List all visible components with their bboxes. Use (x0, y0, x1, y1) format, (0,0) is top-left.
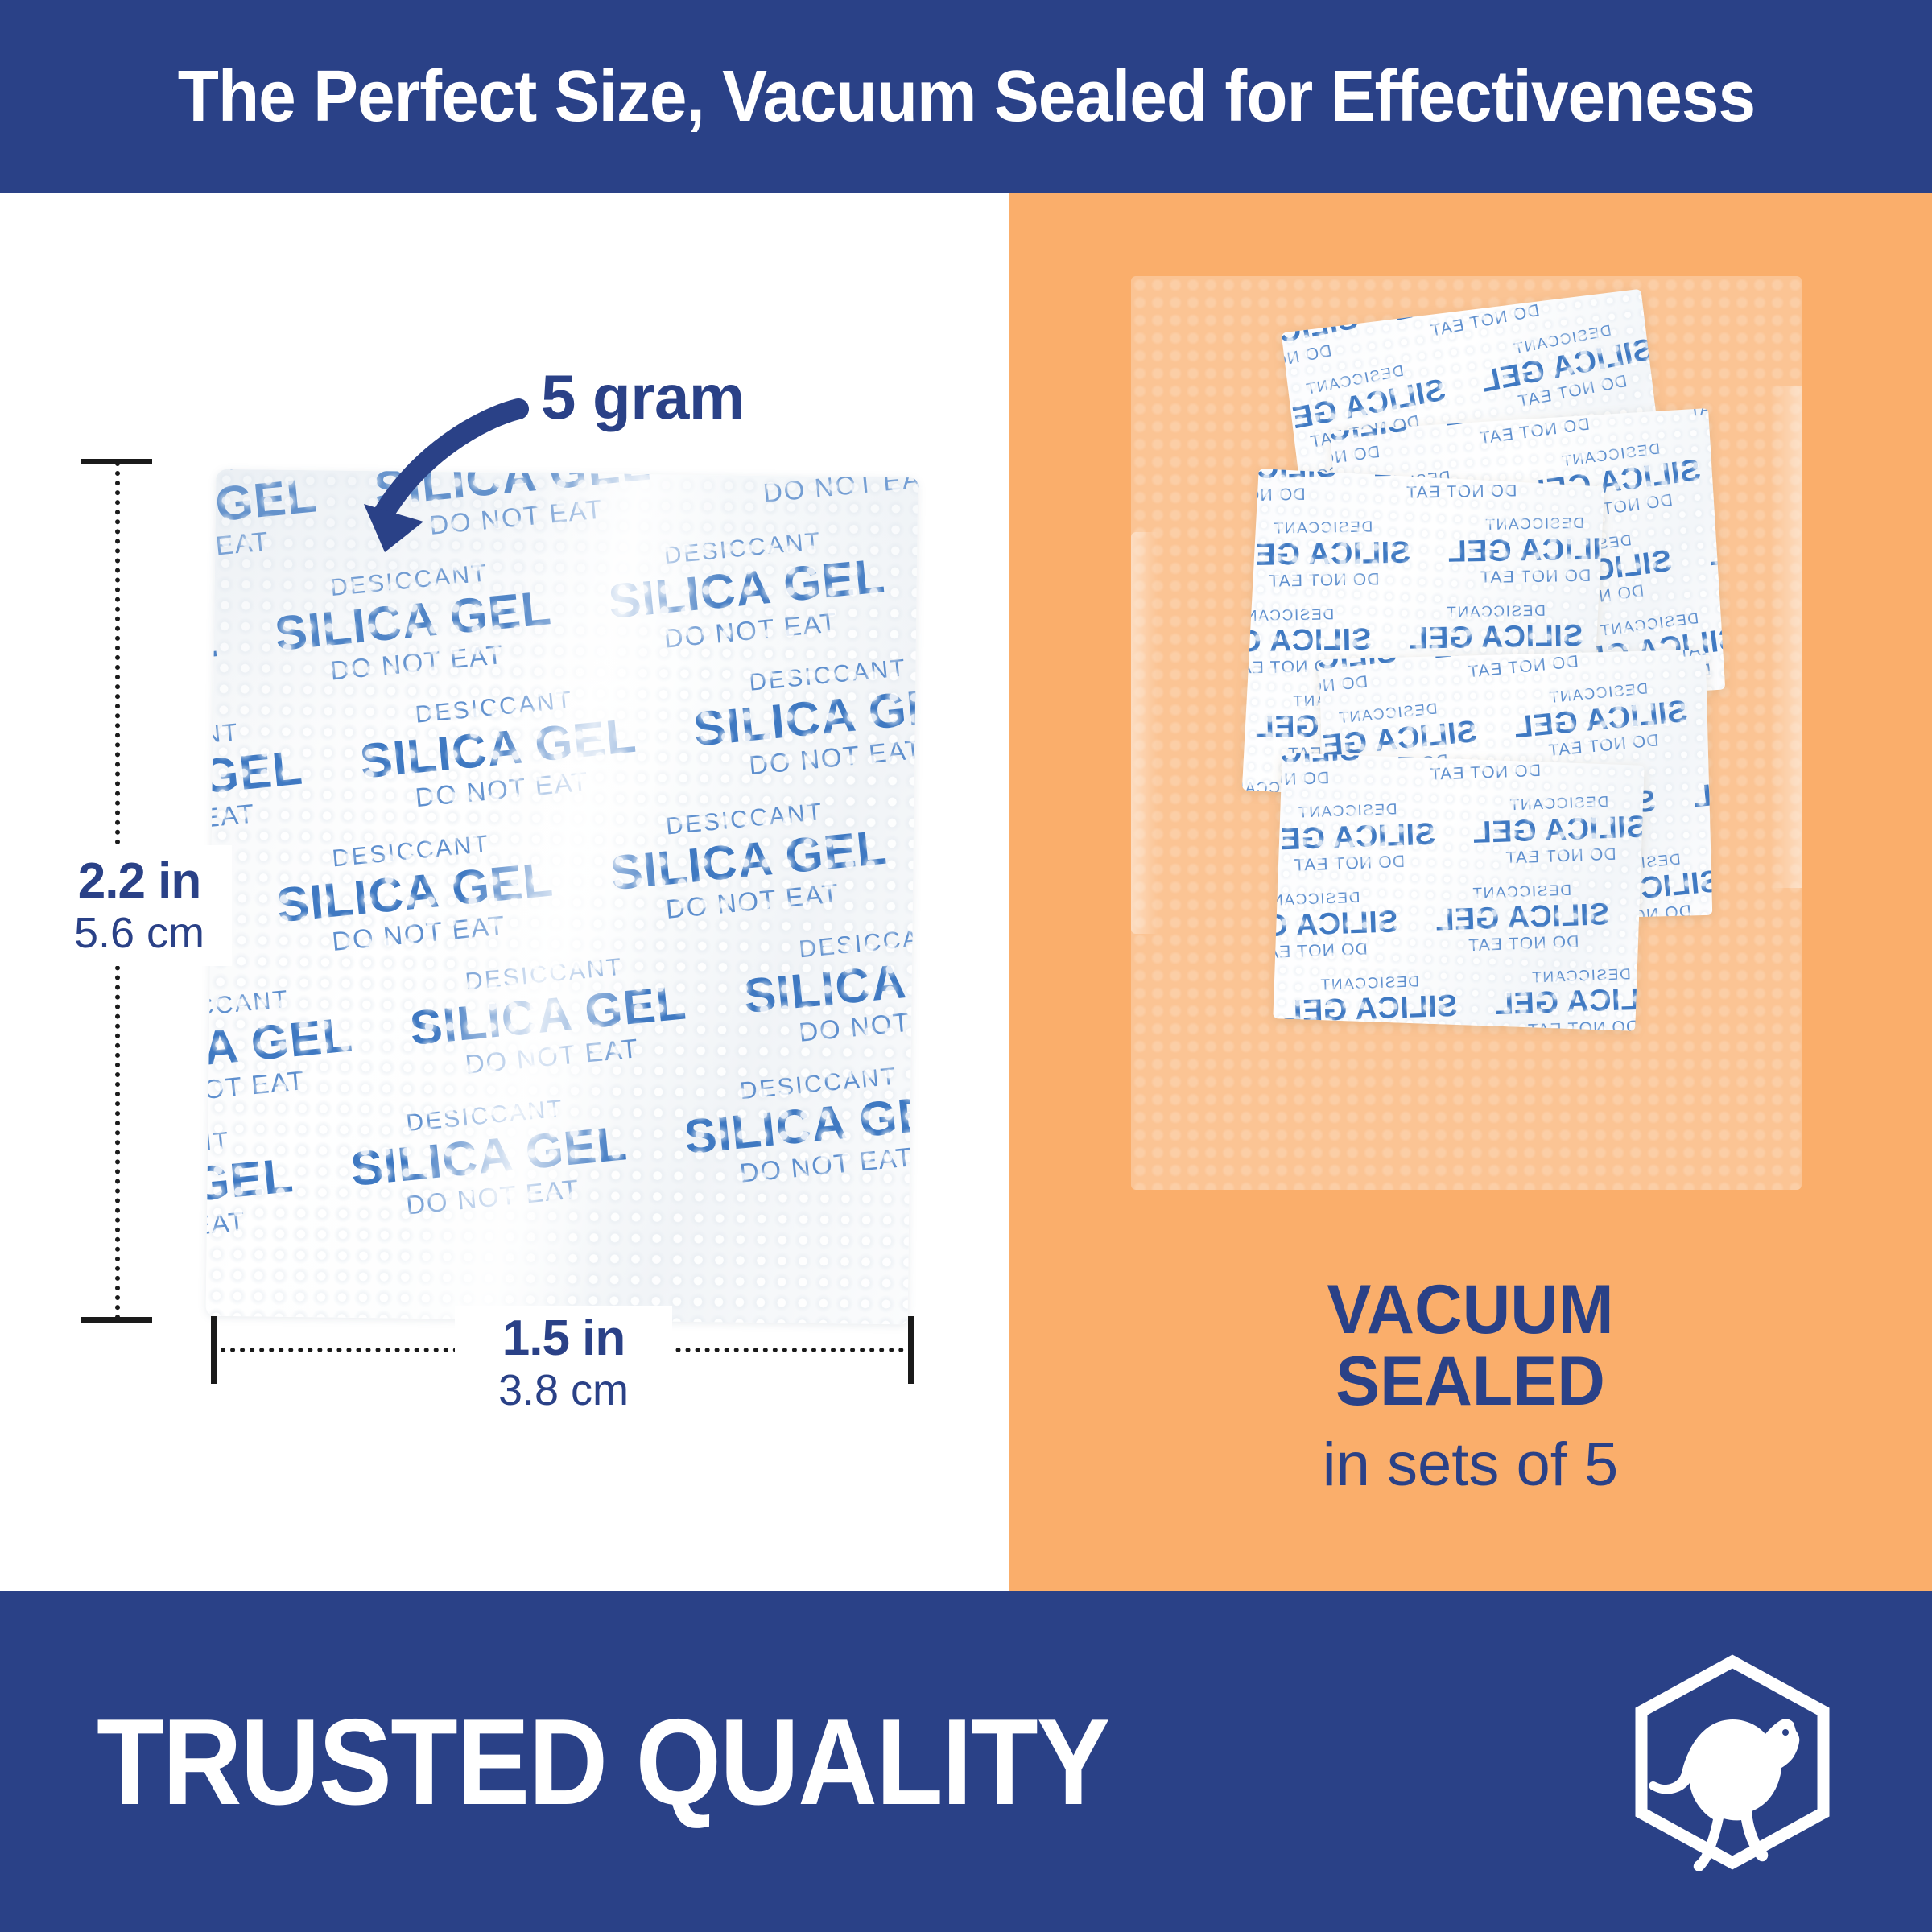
packet-print-block: DESICCANTSILICA GELDO NOT EAT (345, 1089, 632, 1226)
height-dimension-cap-bottom (81, 1317, 152, 1323)
packet-in-pouch: DESICCANTSILICA GELDO NOT EATDESICCANTSI… (1273, 753, 1644, 1031)
packet-sheen-overlay (206, 469, 919, 1325)
packet-print-desiccant: DESICCANT (206, 980, 350, 1033)
packet-print-do-not-eat: DO NOT EAT (353, 1170, 632, 1226)
left-panel: DESICCANTSILICA GELDO NOT EATDESICCANTSI… (0, 193, 1009, 1591)
packet-print-desiccant: DESICCANT (206, 469, 315, 494)
height-metric-value: 5.6 cm (47, 909, 232, 957)
packet-print-do-not-eat: DO NOT EAT (206, 1202, 299, 1258)
packet-print-desiccant: DESICCANT (604, 522, 882, 575)
print-row: DESICCANTSILICA GELDO NOT EATDESICCANTSI… (206, 1046, 919, 1258)
packet-print-do-not-eat: DO NOT EAT (279, 906, 558, 962)
packet-print-silica-gel: SILICA GEL (206, 1148, 296, 1228)
packet-print-silica-gel: SILICA GEL (273, 581, 554, 662)
packet-print-desiccant: DESICCANT (206, 586, 215, 639)
packet-print-desiccant: DESICCANT (405, 947, 683, 1001)
width-metric-value: 3.8 cm (455, 1366, 672, 1414)
pouch-fold-left (1131, 532, 1158, 934)
print-row: DESICCANTSILICA GELDO NOT EATDESICCANTSI… (206, 510, 919, 724)
packet-print-block: DESICCANTSILICA GELDO NOT EAT (703, 469, 918, 514)
packet-print-do-not-eat: DO NOT EAT (206, 795, 308, 851)
packet-print-silica-gel: SILICA GEL (705, 469, 918, 484)
packet-print-block: DESICCANTSILICA GELDO NOT EAT (206, 1121, 299, 1258)
packet-print-silica-gel: SILICA GEL (206, 613, 221, 693)
packet-embossed-texture (206, 469, 919, 1325)
kangaroo-hexagon-logo-icon (1628, 1653, 1837, 1871)
packet-print-block: DESICCANTSILICA GELDO NOT EAT (604, 522, 890, 658)
packet-print-do-not-eat: DO NOT EAT (413, 1029, 691, 1085)
packet-embossed-texture (1273, 753, 1644, 1031)
packet-print-silica-gel: SILICA GEL (682, 1084, 918, 1165)
print-row: DESICCANTSILICA GELDO NOT EATDESICCANTSI… (206, 778, 919, 993)
packet-print-silica-gel: SILICA GEL (349, 1116, 630, 1196)
infographic-page: The Perfect Size, Vacuum Sealed for Effe… (0, 0, 1932, 1932)
header-title: The Perfect Size, Vacuum Sealed for Effe… (177, 60, 1754, 133)
print-row: DESICCANTSILICA GELDO NOT EATDESICCANTSI… (206, 469, 919, 578)
packet-print-do-not-eat: DO NOT EAT (687, 1137, 919, 1194)
packet-print-do-not-eat: DO NOT EAT (696, 730, 918, 786)
packet-print-desiccant: DESICCANT (739, 916, 919, 969)
width-dimension-cap-left (211, 1316, 217, 1384)
packet-print-do-not-eat: DO NOT EAT (377, 489, 655, 546)
packet-print-block: DESICCANTSILICA GELDO NOT EAT (206, 713, 308, 850)
packet-print-desiccant: DESICCANT (206, 713, 300, 766)
packet-print-block: DESICCANTSILICA GELDO NOT EAT (605, 793, 892, 930)
packet-print-desiccant: DESICCANT (345, 1089, 624, 1142)
packet-print-silica-gel: SILICA GEL (691, 676, 919, 757)
packet-print-desiccant: DESICCANT (206, 1121, 291, 1174)
vacuum-sealed-caption: VACUUM SEALED in sets of 5 (1009, 1274, 1932, 1497)
packet-print-silica-gel: SILICA GEL (275, 852, 555, 932)
packet-print-do-not-eat: DO NOT EAT (711, 469, 919, 514)
packet-print-desiccant: DESICCANT (355, 681, 634, 734)
packet-print-desiccant: DESICCANT (270, 554, 548, 607)
packet-print-block: DESICCANTSILICA GELDO NOT EAT (206, 469, 323, 578)
packet-print-do-not-eat: DO NOT EAT (206, 522, 323, 578)
height-dimension-cap-top (81, 459, 152, 464)
footer-title: TRUSTED QUALITY (97, 1701, 1108, 1823)
weight-callout-label: 5 gram (541, 361, 745, 434)
packet-print-desiccant: DESICCANT (272, 825, 551, 878)
packet-print-block: DESICCANTSILICA GELDO NOT EAT (739, 916, 919, 1053)
vacuum-sealed-pouch: DESICCANTSILICA GELDO NOT EATDESICCANTSI… (1131, 276, 1802, 1190)
packet-print-do-not-eat: DO NOT EAT (206, 1061, 358, 1117)
width-dimension-cap-right (908, 1316, 914, 1384)
packet-print-block: DESICCANTSILICA GELDO NOT EAT (369, 469, 656, 546)
silica-gel-packet: DESICCANTSILICA GELDO NOT EATDESICCANTSI… (206, 469, 919, 1325)
packet-print-silica-gel: SILICA GEL (608, 819, 889, 900)
packet-print-silica-gel: SILICA GEL (357, 708, 638, 789)
packet-print-silica-gel: SILICA GEL (606, 549, 887, 630)
width-imperial-value: 1.5 in (455, 1311, 672, 1366)
packet-print-desiccant: DESICCANT (605, 793, 884, 846)
height-dimension-label: 2.2 in 5.6 cm (47, 845, 232, 966)
width-dimension-label: 1.5 in 3.8 cm (455, 1306, 672, 1425)
packet-print-block: DESICCANTSILICA GELDO NOT EAT (689, 649, 919, 786)
packet-print-silica-gel: SILICA GEL (206, 1007, 355, 1088)
packet-print-do-not-eat: DO NOT EAT (613, 873, 892, 930)
packet-print-do-not-eat: DO NOT EAT (278, 634, 556, 691)
packet-print-silica-gel: SILICA GEL (372, 469, 653, 516)
packet-print-do-not-eat: DO NOT EAT (746, 997, 918, 1053)
packet-print-silica-gel: SILICA GEL (407, 975, 688, 1055)
packet-print-desiccant: DESICCANT (689, 649, 919, 702)
vacuum-sealed-line1: VACUUM (1027, 1274, 1913, 1346)
packet-print-block: DESICCANTSILICA GELDO NOT EAT (270, 554, 556, 691)
packet-print-block: DESICCANTSILICA GELDO NOT EAT (272, 825, 559, 962)
packet-print-block: DESICCANTSILICA GELDO NOT EAT (206, 586, 223, 723)
packet-print-do-not-eat: DO NOT EAT (363, 762, 642, 819)
packet-print-silica-gel: SILICA GEL (741, 943, 919, 1023)
packet-print-desiccant: DESICCANT (679, 1057, 918, 1110)
packet-print-block: DESICCANTSILICA GELDO NOT EAT (355, 681, 642, 818)
footer-banner: TRUSTED QUALITY (0, 1591, 1932, 1932)
packet-print-silica-gel: SILICA GEL (206, 469, 320, 548)
vacuum-sealed-line3: in sets of 5 (1009, 1433, 1932, 1497)
packet-print-block: DESICCANTSILICA GELDO NOT EAT (679, 1057, 918, 1194)
packet-print-pattern: DESICCANTSILICA GELDO NOT EATDESICCANTSI… (206, 469, 919, 1325)
packet-print-do-not-eat: DO NOT EAT (612, 602, 890, 658)
packet-print-block: DESICCANTSILICA GELDO NOT EAT (405, 947, 691, 1084)
pouch-fold-right (1769, 386, 1802, 888)
right-panel: DESICCANTSILICA GELDO NOT EATDESICCANTSI… (1009, 193, 1932, 1591)
print-row: DESICCANTSILICA GELDO NOT EATDESICCANTSI… (206, 644, 919, 851)
packet-print-silica-gel: SILICA GEL (206, 741, 305, 821)
print-row: DESICCANTSILICA GELDO NOT EATDESICCANTSI… (206, 912, 919, 1117)
vacuum-sealed-line2: SEALED (1027, 1346, 1913, 1418)
height-imperial-value: 2.2 in (47, 853, 232, 909)
packet-print-block: DESICCANTSILICA GELDO NOT EAT (206, 980, 358, 1117)
packet-print-do-not-eat: DO NOT EAT (206, 667, 223, 723)
header-banner: The Perfect Size, Vacuum Sealed for Effe… (0, 0, 1932, 193)
